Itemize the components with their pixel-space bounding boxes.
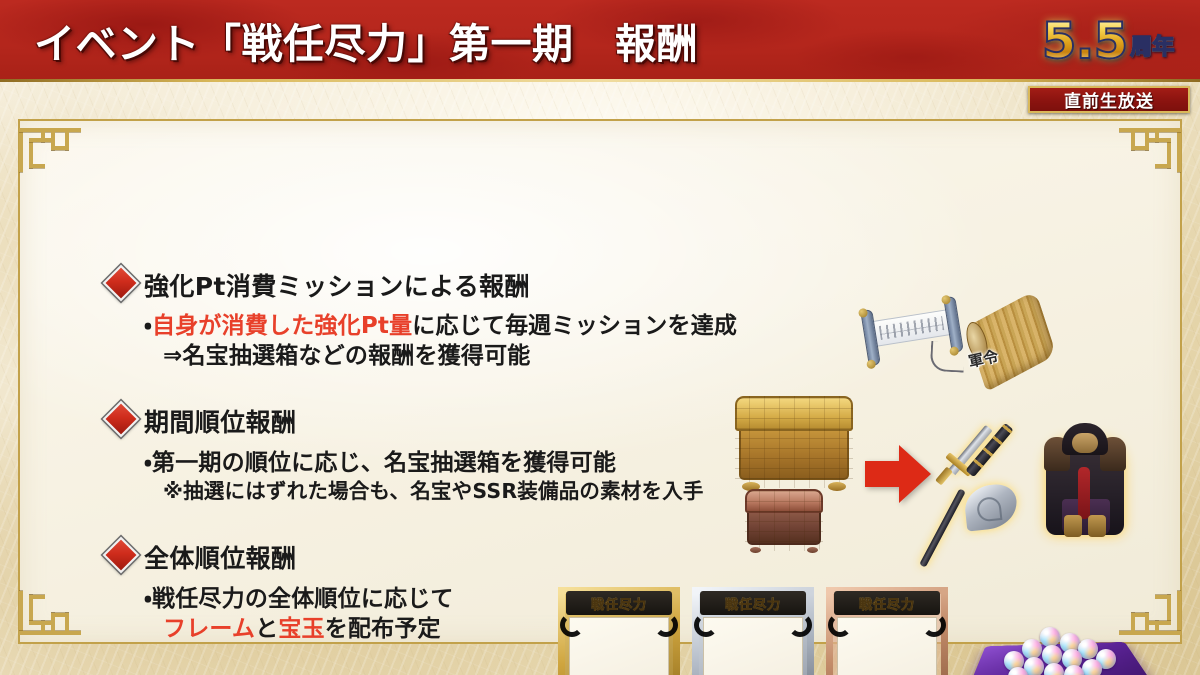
anniversary-number: 5.5 [1042, 16, 1128, 66]
broadcast-label: 直前生放送 [1064, 87, 1154, 112]
reward-frame-gold: 戦任尽力 [558, 587, 680, 675]
section-pt-mission-rewards: 強化Pt消費ミッションによる報酬 ・自身が消費した強化Pt量に応じて毎週ミッショ… [108, 267, 737, 372]
corner-ornament-bottom-left [19, 591, 85, 643]
diamond-marker-icon [103, 401, 140, 438]
gem-ball [1022, 639, 1042, 659]
character-costume-item [1042, 417, 1128, 539]
section-title: 全体順位報酬 [144, 539, 296, 575]
gem-ball [1082, 659, 1102, 675]
corner-ornament-top-left [19, 120, 85, 172]
sword-weapon-item [938, 417, 1034, 487]
anniversary-badge: 5.5 周年 直前生放送 [1022, 2, 1194, 114]
frame-label-bronze: 戦任尽力 [859, 594, 915, 613]
highlight-text-2: 宝玉 [278, 616, 324, 642]
corner-ornament-top-right [1115, 120, 1181, 172]
section-line: ・戦任尽力の全体順位に応じて [108, 584, 454, 614]
glaive-weapon-item [925, 479, 1035, 567]
section-line: フレームと宝玉を配布予定 [108, 614, 454, 644]
red-arrow-icon [865, 443, 931, 505]
section-note: ※抽選にはずれた場合も、名宝やSSR装備品の素材を入手 [108, 478, 704, 505]
content-panel: 軍令 [18, 119, 1182, 644]
section-title: 強化Pt消費ミッションによる報酬 [144, 267, 530, 303]
anniversary-suffix: 周年 [1130, 37, 1174, 59]
reward-frame-silver: 戦任尽力 [692, 587, 814, 675]
anniversary-main: 5.5 周年 [1022, 2, 1194, 80]
copper-treasure-chest [745, 489, 823, 551]
section-period-rank-rewards: 期間順位報酬 ・第一期の順位に応じ、名宝抽選箱を獲得可能 ※抽選にはずれた場合も… [108, 403, 704, 505]
gold-treasure-chest [735, 396, 853, 488]
section-line: ・第一期の順位に応じ、名宝抽選箱を獲得可能 [108, 448, 704, 478]
gem-ball [1042, 645, 1062, 665]
blue-scroll-item [854, 293, 970, 369]
frame-sword-cluster-silver [758, 671, 810, 675]
frame-sword-cluster-gold [624, 671, 676, 675]
diamond-marker-icon [103, 537, 140, 574]
header-band: イベント「戦任尽力」第一期 報酬 [0, 0, 1200, 82]
broadcast-badge: 直前生放送 [1028, 86, 1190, 113]
reward-frame-bronze: 戦任尽力 [826, 587, 948, 675]
highlight-text: 自身が消費した強化Pt量 [152, 313, 412, 339]
gem-ball [1040, 627, 1060, 647]
section-title: 期間順位報酬 [144, 403, 296, 439]
treasure-gems-item [978, 619, 1140, 675]
section-line: ⇒名宝抽選箱などの報酬を獲得可能 [108, 341, 737, 371]
frame-sword-cluster-bronze [892, 671, 944, 675]
diamond-marker-icon [103, 265, 140, 302]
highlight-text: フレーム [163, 616, 255, 642]
section-overall-rank-rewards: 全体順位報酬 ・戦任尽力の全体順位に応じて フレームと宝玉を配布予定 [108, 539, 454, 645]
page-title: イベント「戦任尽力」第一期 報酬 [34, 10, 698, 70]
section-line: ・自身が消費した強化Pt量に応じて毎週ミッションを達成 [108, 311, 737, 341]
slide-root: イベント「戦任尽力」第一期 報酬 5.5 周年 直前生放送 [0, 0, 1200, 675]
frame-label-silver: 戦任尽力 [725, 594, 781, 613]
frame-label-gold: 戦任尽力 [591, 594, 647, 613]
